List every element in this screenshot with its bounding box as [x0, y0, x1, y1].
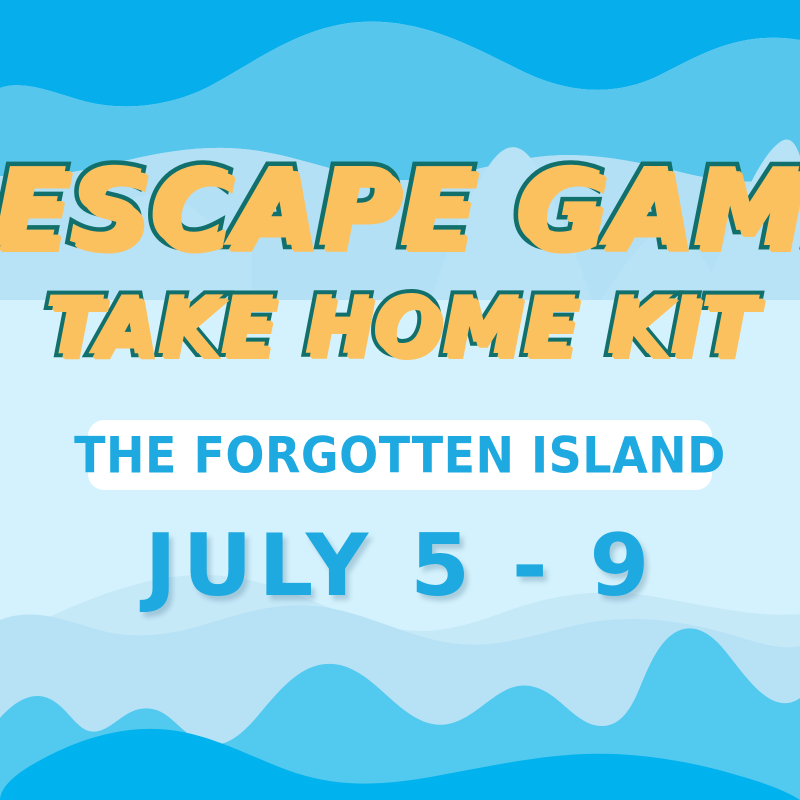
page-subtitle: TAKE HOME KIT: [0, 280, 800, 372]
event-name-label: THE FORGOTTEN ISLAND: [74, 428, 726, 482]
page-title: ESCAPE GAME: [0, 150, 800, 268]
event-dates: JULY 5 - 9: [0, 518, 800, 614]
poster-content: ESCAPE GAME TAKE HOME KIT THE FORGOTTEN …: [0, 0, 800, 800]
event-name-banner: THE FORGOTTEN ISLAND: [88, 420, 712, 490]
poster-canvas: ESCAPE GAME TAKE HOME KIT THE FORGOTTEN …: [0, 0, 800, 800]
